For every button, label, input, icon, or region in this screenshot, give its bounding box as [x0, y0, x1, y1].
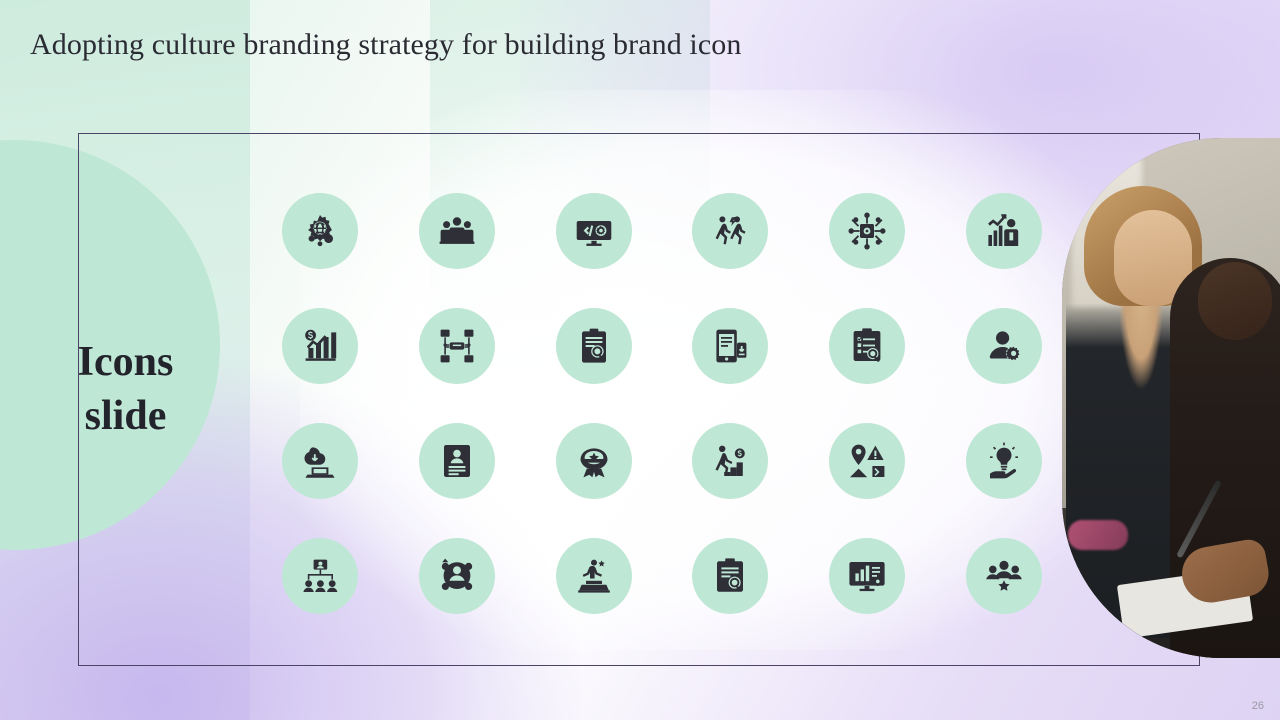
page-number: 26	[1252, 700, 1264, 712]
cloud-computing-laptop-icon[interactable]	[282, 423, 358, 499]
process-flow-diagram-icon[interactable]	[419, 308, 495, 384]
org-hierarchy-icon[interactable]	[282, 538, 358, 614]
photo-content	[1062, 138, 1280, 658]
clipboard-search-icon[interactable]	[556, 308, 632, 384]
photo-pink-object	[1068, 520, 1128, 550]
career-ladder-steps-icon[interactable]	[692, 423, 768, 499]
checklist-search-icon[interactable]	[829, 308, 905, 384]
id-card-profile-icon[interactable]	[419, 423, 495, 499]
customer-engagement-icon[interactable]	[419, 538, 495, 614]
clipboard-approved-icon[interactable]	[692, 538, 768, 614]
global-gear-target-icon[interactable]	[282, 193, 358, 269]
award-badge-star-icon[interactable]	[556, 423, 632, 499]
growth-chart-person-icon[interactable]	[966, 193, 1042, 269]
icons-grid	[252, 173, 1072, 633]
team-award-icon[interactable]	[966, 538, 1042, 614]
meeting-photo	[1062, 138, 1280, 658]
location-risk-icon[interactable]	[829, 423, 905, 499]
team-group-people-icon[interactable]	[419, 193, 495, 269]
dashboard-report-icon[interactable]	[829, 538, 905, 614]
winner-podium-trophy-icon[interactable]	[556, 538, 632, 614]
idea-bulb-hand-icon[interactable]	[966, 423, 1042, 499]
monitor-code-gear-icon[interactable]	[556, 193, 632, 269]
page-title: Adopting culture branding strategy for b…	[30, 28, 741, 62]
user-settings-icon[interactable]	[966, 308, 1042, 384]
mobile-download-icon[interactable]	[692, 308, 768, 384]
running-competition-icon[interactable]	[692, 193, 768, 269]
photo-person-right-head	[1198, 262, 1272, 340]
revenue-bar-chart-icon[interactable]	[282, 308, 358, 384]
slide-canvas: Adopting culture branding strategy for b…	[0, 0, 1280, 720]
network-nodes-target-icon[interactable]	[829, 193, 905, 269]
